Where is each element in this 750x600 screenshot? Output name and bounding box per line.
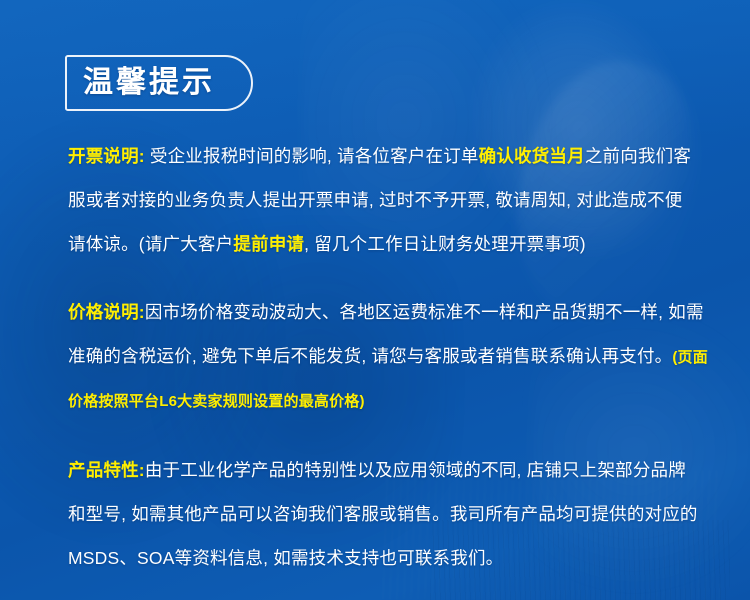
notice-section: 产品特性:由于工业化学产品的特别性以及应用领域的不同, 店铺只上架部分品牌和型号… [68, 448, 702, 580]
notice-highlight-run: 价格按照平台L6大卖家规则设置的最高价格) [68, 393, 365, 410]
notice-line: 准确的含税运价, 避免下单后不能发货, 请您与客服或者销售联系确认再支付。(页面 [68, 334, 702, 380]
notice-line: 价格按照平台L6大卖家规则设置的最高价格) [68, 380, 702, 424]
notice-section: 价格说明:因市场价格变动波动大、各地区运费标准不一样和产品货期不一样, 如需准确… [68, 290, 702, 424]
notice-line: 服或者对接的业务负责人提出开票申请, 过时不予开票, 敬请周知, 对此造成不便 [68, 178, 702, 222]
notice-text-run: 准确的含税运价, 避免下单后不能发货, 请您与客服或者销售联系确认再支付。 [68, 346, 672, 366]
notice-line: 开票说明: 受企业报税时间的影响, 请各位客户在订单确认收货当月之前向我们客 [68, 134, 702, 178]
notice-line: 和型号, 如需其他产品可以咨询我们客服或销售。我司所有产品均可提供的对应的 [68, 492, 702, 536]
notice-highlight-run: 提前申请 [233, 234, 304, 254]
notice-line: 请体谅。(请广大客户提前申请, 留几个工作日让财务处理开票事项) [68, 222, 702, 266]
notice-text-run: 之前向我们客 [585, 146, 691, 166]
notice-text-run: , 留几个工作日让财务处理开票事项) [304, 234, 586, 254]
notice-highlight-run: 产品特性: [68, 460, 145, 480]
page-title: 温馨提示 [67, 68, 215, 98]
notice-text-run: 服或者对接的业务负责人提出开票申请, 过时不予开票, 敬请周知, 对此造成不便 [68, 190, 682, 210]
notice-highlight-run: 开票说明: [68, 146, 145, 166]
notice-text-run: 和型号, 如需其他产品可以咨询我们客服或销售。我司所有产品均可提供的对应的 [68, 504, 698, 524]
notice-title-badge: 温馨提示 [65, 55, 253, 111]
notice-line: 价格说明:因市场价格变动波动大、各地区运费标准不一样和产品货期不一样, 如需 [68, 290, 702, 334]
notice-highlight-run: (页面 [672, 349, 708, 366]
notice-line: MSDS、SOA等资料信息, 如需技术支持也可联系我们。 [68, 536, 702, 580]
notice-text-run: 请体谅。(请广大客户 [68, 234, 233, 254]
notice-text-run: MSDS、SOA等资料信息, 如需技术支持也可联系我们。 [68, 548, 503, 568]
notice-section: 开票说明: 受企业报税时间的影响, 请各位客户在订单确认收货当月之前向我们客服或… [68, 134, 702, 266]
notice-body: 开票说明: 受企业报税时间的影响, 请各位客户在订单确认收货当月之前向我们客服或… [68, 134, 702, 580]
promo-notice-banner: 温馨提示 开票说明: 受企业报税时间的影响, 请各位客户在订单确认收货当月之前向… [0, 0, 750, 600]
notice-highlight-run: 确认收货当月 [479, 146, 585, 166]
notice-text-run: 因市场价格变动波动大、各地区运费标准不一样和产品货期不一样, 如需 [145, 302, 704, 322]
notice-highlight-run: 价格说明: [68, 302, 145, 322]
notice-text-run: 由于工业化学产品的特别性以及应用领域的不同, 店铺只上架部分品牌 [145, 460, 686, 480]
notice-line: 产品特性:由于工业化学产品的特别性以及应用领域的不同, 店铺只上架部分品牌 [68, 448, 702, 492]
notice-text-run: 受企业报税时间的影响, 请各位客户在订单 [145, 146, 479, 166]
